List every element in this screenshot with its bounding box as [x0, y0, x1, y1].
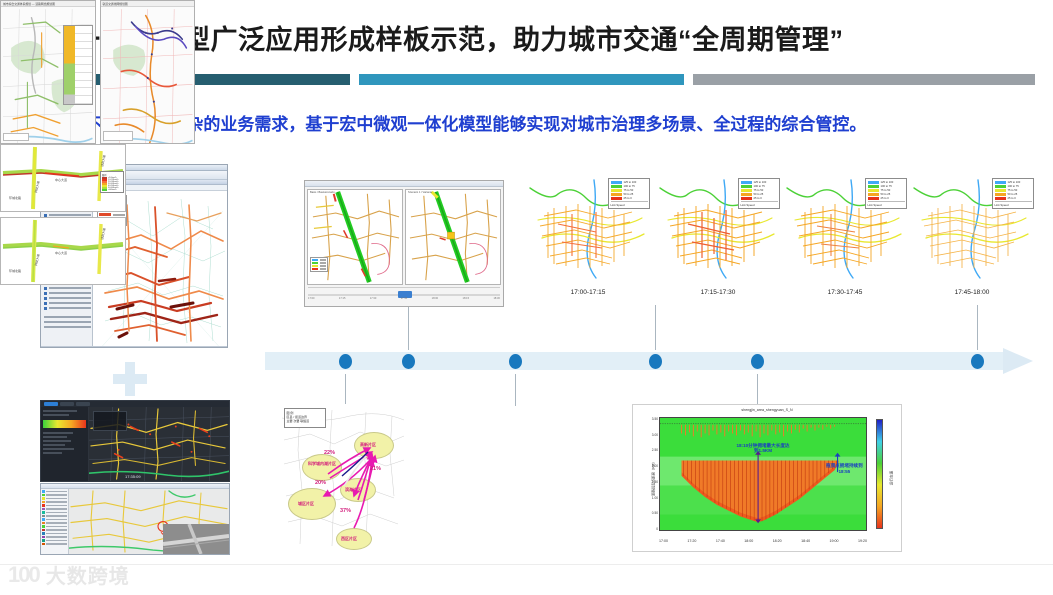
- legend-item: 75 to 50: [868, 189, 905, 193]
- layer-row[interactable]: [42, 525, 67, 528]
- legend-row: [75, 34, 92, 42]
- speed-map-caption: 17:00-17:15: [524, 289, 652, 296]
- legend-item: [312, 268, 326, 270]
- link-speed-legend: 125 to 100 100 to 75 75 to 50 50 to 25 2…: [738, 178, 780, 209]
- sidebar-row[interactable]: [43, 440, 71, 442]
- rule-bar-blue: [359, 74, 684, 85]
- monitor-timestamp: 17:35:09: [125, 474, 141, 479]
- timeline-dot[interactable]: [649, 354, 662, 369]
- 3d-view-svg: [163, 524, 229, 554]
- timeline-dot[interactable]: [509, 354, 522, 369]
- slider-tick: 18:00: [432, 297, 439, 300]
- checkbox-icon[interactable]: [44, 292, 47, 295]
- legend-item: 100 to 75: [611, 185, 648, 189]
- timeline-dot[interactable]: [751, 354, 764, 369]
- slider-tick: 17:00: [308, 297, 315, 300]
- tree-item[interactable]: [42, 301, 91, 305]
- tree-item[interactable]: [42, 296, 91, 300]
- layer-row[interactable]: [42, 543, 67, 546]
- y-tick: 0.50: [652, 511, 658, 515]
- slider-tick: 17:15: [339, 297, 346, 300]
- legend-row: [75, 49, 92, 57]
- legend-item: 25 to 0: [741, 197, 778, 201]
- timeline-connector: [515, 374, 516, 406]
- microsim-map-canvas[interactable]: [69, 489, 229, 554]
- corridor-road-label: 环城北路: [9, 268, 21, 273]
- layer-row[interactable]: [42, 497, 67, 500]
- timeline-shaft: [265, 352, 1005, 370]
- legend-item: 100 to 75: [995, 185, 1032, 189]
- checkbox-icon[interactable]: [44, 302, 47, 305]
- legend-row: [75, 42, 92, 50]
- legend-title: Link Speed: [611, 201, 648, 207]
- y-tick: 2.50: [652, 448, 658, 452]
- legend-item: 50 to 25: [868, 193, 905, 197]
- watermark: 100 大数跨境: [8, 560, 130, 589]
- timeline-connector: [345, 374, 346, 404]
- tab-network[interactable]: [60, 402, 74, 406]
- slider-tick: 18:30: [493, 297, 500, 300]
- tab-events[interactable]: [76, 402, 90, 406]
- y-tick: 2.00: [652, 464, 658, 468]
- legend-item: [312, 262, 326, 264]
- legend-title: Link Speed: [741, 201, 778, 207]
- legend-row: [75, 96, 92, 104]
- speed-map-2: 125 to 100 100 to 75 75 to 50 50 to 25 2…: [654, 176, 782, 284]
- legend-item: 25 to 0: [868, 197, 905, 201]
- checkbox-icon[interactable]: [44, 297, 47, 300]
- speed-map-3: 125 to 100 100 to 75 75 to 50 50 to 25 2…: [781, 176, 909, 284]
- scenario-compare-window[interactable]: Basis / Basisszenario: [304, 180, 504, 307]
- monitor-legend: [93, 411, 127, 431]
- x-tick: 17:00: [659, 539, 668, 543]
- speed-map-caption: 17:15-17:30: [654, 289, 782, 296]
- corridor-road-label: 环城北路: [9, 195, 21, 200]
- speed-map-caption: 17:30-17:45: [781, 289, 909, 296]
- legend-item: [312, 265, 326, 267]
- compare-legend: [310, 257, 328, 272]
- corridor-road-label: 中心大道: [55, 177, 67, 182]
- legend-title: Link Speed: [995, 201, 1032, 207]
- tree-item[interactable]: [42, 325, 91, 329]
- sidebar-row[interactable]: [43, 436, 67, 438]
- link-speed-legend: 125 to 100 100 to 75 75 to 50 50 to 25 2…: [865, 178, 907, 209]
- tree-item[interactable]: [42, 286, 91, 290]
- legend-item: 125 to 100: [611, 181, 648, 185]
- footer-divider: [0, 564, 1053, 565]
- legend-row-list: [75, 26, 92, 104]
- sidebar-row[interactable]: [43, 432, 73, 434]
- plus-icon: [113, 362, 147, 396]
- legend-item: 50 to 25: [995, 193, 1032, 197]
- timeline-connector: [655, 305, 656, 350]
- sidebar-row[interactable]: [43, 448, 74, 450]
- layer-row[interactable]: [42, 490, 67, 493]
- planning-legend: [63, 25, 93, 105]
- visum-status-bar: [41, 346, 227, 348]
- x-tick: 18:20: [773, 539, 782, 543]
- layer-row[interactable]: [42, 532, 67, 535]
- legend-title: Link Speed: [868, 201, 905, 207]
- timeline-dot[interactable]: [402, 354, 415, 369]
- monitor-sidebar[interactable]: [41, 407, 89, 481]
- sidebar-row[interactable]: [43, 414, 69, 416]
- y-tick: 0: [656, 527, 658, 531]
- layer-row[interactable]: [42, 494, 67, 497]
- tree-item[interactable]: [42, 291, 91, 295]
- timeline-connector: [757, 374, 758, 406]
- corridor-legend: 图例 <10km/h 10-20km/h 20-30km/h 30-40km/h…: [100, 171, 124, 193]
- y-tick: 3.50: [652, 417, 658, 421]
- timeline-dot[interactable]: [339, 354, 352, 369]
- timeline-arrowhead: [1003, 348, 1033, 374]
- 3d-intersection-inset[interactable]: [163, 524, 229, 554]
- chart-plot-area: 18:10分钟拥堵最大长度达到1.5KM 瓶颈点拥堵持续到18:55: [659, 417, 867, 531]
- legend-item: 25 to 0: [995, 197, 1032, 201]
- od-desire-line-diagram: 图 例 区县 / 街道边界 主要 次要 联络道 高新片区 科学城内湖片区 城区片…: [280, 404, 406, 552]
- layer-row[interactable]: [42, 504, 67, 507]
- watermark-text: 大数跨境: [46, 560, 130, 589]
- chart-annotation-bottleneck: 瓶颈点拥堵持续到18:55: [825, 463, 864, 474]
- slider-tick-labels: 17:00 17:15 17:30 17:45 18:00 18:15 18:3…: [308, 297, 500, 300]
- legend-color-column: [64, 26, 75, 104]
- layer-row[interactable]: [42, 511, 67, 514]
- speed-map-caption: 17:45-18:00: [908, 289, 1036, 296]
- link-speed-legend: 125 to 100 100 to 75 75 to 50 50 to 25 2…: [608, 178, 650, 209]
- legend-item: 75 to 50: [741, 189, 778, 193]
- timeline-connector: [408, 307, 409, 350]
- layer-row[interactable]: [42, 515, 67, 518]
- dark-traffic-monitor[interactable]: 17:35:09: [40, 400, 230, 482]
- legend-row: [75, 57, 92, 65]
- sidebar-row[interactable]: [43, 444, 65, 446]
- legend-item: >60km/h: [102, 189, 122, 191]
- layer-row[interactable]: [42, 501, 67, 504]
- rail-plan-svg: [101, 7, 195, 144]
- layer-row[interactable]: [42, 522, 67, 525]
- x-tick: 19:00: [830, 539, 839, 543]
- y-tick: 1.50: [652, 480, 658, 484]
- legend-item: 125 to 100: [868, 181, 905, 185]
- planning-sheet-road[interactable]: 城市综合交通体系规划 — 道路网络规划图: [0, 0, 96, 144]
- corridor-road-label: 中心大道: [55, 250, 67, 255]
- slider-tick: 18:15: [463, 297, 470, 300]
- legend-item: 75 to 50: [611, 189, 648, 193]
- layer-row[interactable]: [42, 518, 67, 521]
- tree-item[interactable]: [42, 315, 91, 319]
- pane-label: Basis / Basisszenario: [310, 191, 335, 194]
- chart-x-ticks: 17:00 17:20 17:40 18:00 18:20 18:40 19:0…: [659, 539, 867, 543]
- layer-row[interactable]: [42, 536, 67, 539]
- sidebar-row[interactable]: [43, 452, 62, 454]
- timeline-connector: [977, 305, 978, 350]
- legend-row: [75, 81, 92, 89]
- chart-y-ticks: 3.50 3.00 2.50 2.00 1.50 1.00 0.50 0: [641, 417, 658, 531]
- legend-item: 125 to 100: [741, 181, 778, 185]
- legend-row: [75, 65, 92, 73]
- x-tick: 18:00: [744, 539, 753, 543]
- checkbox-icon[interactable]: [44, 287, 47, 290]
- slider-tick: 17:45: [401, 297, 408, 300]
- od-flow-percent: 21%: [370, 466, 381, 472]
- legend-item: [312, 259, 326, 261]
- microsim-window[interactable]: [40, 483, 230, 555]
- od-flow-percent: 22%: [324, 450, 335, 456]
- watermark-logo: 100: [8, 562, 39, 588]
- chart-annotation-peak: 18:10分钟拥堵最大长度达到1.5KM: [734, 443, 792, 454]
- timeline-dot[interactable]: [971, 354, 984, 369]
- layer-row[interactable]: [42, 529, 67, 532]
- speed-map-4: 125 to 100 100 to 75 75 to 50 50 to 25 2…: [908, 176, 1036, 284]
- time-slider[interactable]: 17:00 17:15 17:30 17:45 18:00 18:15 18:3…: [308, 287, 500, 300]
- planning-scale-bar: [3, 133, 29, 141]
- rule-bar-gray: [693, 74, 1035, 85]
- x-tick: 17:40: [716, 539, 725, 543]
- space-time-speed-chart: shengjin_area_shengyuan_S_N 距路段起点距离（KM） …: [632, 404, 902, 552]
- y-tick: 1.00: [652, 496, 658, 500]
- legend-item: [99, 213, 125, 216]
- tree-item[interactable]: [42, 320, 91, 324]
- compare-pane-right[interactable]: Szenario 1 / Variante: [405, 189, 501, 285]
- legend-row: [75, 73, 92, 81]
- corridor-pane-after[interactable]: 中心大道 环城北路 科技大道 迎宾大道: [0, 217, 126, 285]
- process-timeline: [265, 348, 1040, 374]
- rail-legend: [103, 131, 133, 141]
- od-flow-arrows: [280, 404, 406, 552]
- layer-row[interactable]: [42, 508, 67, 511]
- slider-tick: 17:30: [370, 297, 377, 300]
- chart-colorbar-label: 运行车速: [889, 471, 894, 485]
- legend-item: 100 to 75: [741, 185, 778, 189]
- legend-item: 50 to 25: [741, 193, 778, 197]
- pane-label: Szenario 1 / Variante: [408, 191, 432, 194]
- chart-colorbar: [876, 419, 883, 529]
- link-speed-legend: 125 to 100 100 to 75 75 to 50 50 to 25 2…: [992, 178, 1034, 209]
- legend-item: 25 to 0: [611, 197, 648, 201]
- legend-item: 75 to 50: [995, 189, 1032, 193]
- checkbox-icon[interactable]: [44, 307, 47, 310]
- od-flow-percent: 20%: [315, 480, 326, 486]
- x-tick: 17:20: [687, 539, 696, 543]
- speed-map-1: 125 to 100 100 to 75 75 to 50 50 to 25 2…: [524, 176, 652, 284]
- tab-overview[interactable]: [44, 402, 58, 406]
- corridor-pane-before[interactable]: 中心大道 环城北路 科技大道 迎宾大道 图例 <10km/h 10-20km/h…: [0, 144, 126, 212]
- compare-pane-left[interactable]: Basis / Basisszenario: [307, 189, 403, 285]
- legend-item: 50 to 25: [611, 193, 648, 197]
- legend-row: [75, 26, 92, 34]
- sidebar-row[interactable]: [43, 410, 77, 412]
- od-flow-percent: 37%: [340, 508, 351, 514]
- x-tick: 18:40: [801, 539, 810, 543]
- speed-color-ramp: [43, 420, 86, 428]
- legend-item: 100 to 75: [868, 185, 905, 189]
- corridor-svg-after: 中心大道 环城北路 科技大道 迎宾大道: [1, 218, 125, 284]
- microsim-layer-list[interactable]: [41, 489, 69, 554]
- chart-title: shengjin_area_shengyuan_S_N: [633, 405, 901, 412]
- tree-item[interactable]: [42, 306, 91, 310]
- dark-map-canvas[interactable]: 17:35:09: [89, 407, 229, 481]
- planning-sheet-rail[interactable]: 轨道交通线网规划图: [100, 0, 196, 144]
- x-tick: 19:20: [858, 539, 867, 543]
- layer-row[interactable]: [42, 539, 67, 542]
- legend-item: 125 to 100: [995, 181, 1032, 185]
- y-tick: 3.00: [652, 433, 658, 437]
- legend-row: [75, 88, 92, 96]
- corridor-map-right: [406, 190, 500, 284]
